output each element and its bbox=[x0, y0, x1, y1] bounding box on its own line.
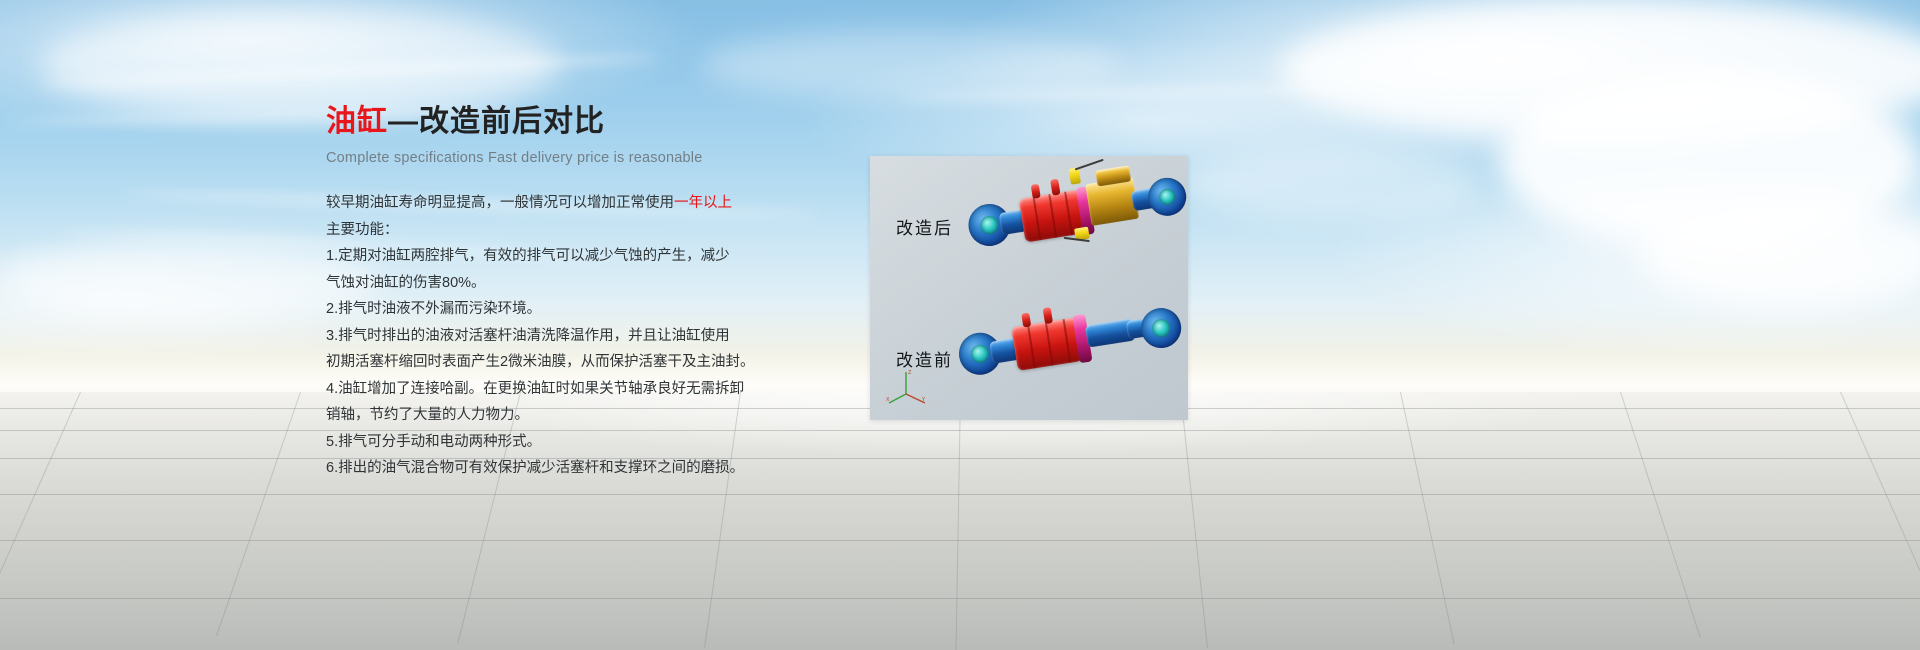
cloud bbox=[1640, 200, 1920, 310]
svg-text:Z: Z bbox=[908, 370, 912, 376]
feature-line: 5.排气可分手动和电动两种形式。 bbox=[326, 429, 766, 456]
exhaust-valve-assembly bbox=[1085, 177, 1139, 226]
barrel-port bbox=[1043, 307, 1053, 324]
cloud bbox=[1180, 150, 1480, 220]
feature-line: 气蚀对油缸的伤害80%。 bbox=[326, 270, 766, 297]
barrel-rib bbox=[1048, 194, 1057, 238]
coordinate-axis-icon: Z X Y bbox=[886, 368, 928, 406]
feature-text-list: 较早期油缸寿命明显提高，一般情况可以增加正常使用一年以上 主要功能： 1.定期对… bbox=[326, 190, 766, 482]
barrel-rib bbox=[1027, 325, 1036, 369]
feature-line: 2.排气时油液不外漏而污染环境。 bbox=[326, 296, 766, 323]
exhaust-hose bbox=[1075, 159, 1104, 171]
barrel-rib bbox=[1064, 192, 1073, 236]
page-title-rest: —改造前后对比 bbox=[388, 105, 605, 138]
barrel-port bbox=[1021, 313, 1031, 328]
cylinder-eye bbox=[1145, 175, 1188, 218]
feature-line: 较早期油缸寿命明显提高，一般情况可以增加正常使用一年以上 bbox=[326, 190, 766, 217]
feature-line: 6.排出的油气混合物可有效保护减少活塞杆和支撑环之间的磨损。 bbox=[326, 455, 766, 482]
feature-line: 1.定期对油缸两腔排气，有效的排气可以减少气蚀的产生，减少 bbox=[326, 243, 766, 270]
pavement-line bbox=[0, 540, 1920, 541]
cylinder-barrel bbox=[1011, 317, 1083, 371]
svg-text:Y: Y bbox=[921, 397, 926, 403]
page-subtitle: Complete specifications Fast delivery pr… bbox=[326, 148, 766, 168]
label-after-modification: 改造后 bbox=[896, 214, 953, 239]
cylinder-eye bbox=[1138, 305, 1184, 351]
svg-text:X: X bbox=[886, 397, 890, 403]
cloud bbox=[700, 30, 1120, 100]
feature-line: 3.排气时排出的油液对活塞杆油清洗降温作用，并且让油缸使用 bbox=[326, 323, 766, 350]
page-title-highlight: 油缸 bbox=[326, 105, 388, 138]
barrel-rib bbox=[1063, 319, 1072, 363]
product-image-panel: 改造后 改造前 Z X Y bbox=[870, 156, 1188, 420]
cloud bbox=[0, 240, 380, 320]
pavement-line bbox=[0, 598, 1920, 599]
barrel-rib bbox=[1033, 197, 1042, 241]
feature-line: 4.油缸增加了连接哈副。在更换油缸时如果关节轴承良好无需拆卸 bbox=[326, 376, 766, 403]
feature-line: 主要功能： bbox=[326, 217, 766, 244]
barrel-rib bbox=[1045, 322, 1054, 366]
feature-line: 初期活塞杆缩回时表面产生2微米油膜，从而保护活塞干及主油封。 bbox=[326, 349, 766, 376]
barrel-port bbox=[1050, 179, 1060, 196]
banner-text-block: 油缸—改造前后对比 Complete specifications Fast d… bbox=[326, 104, 766, 482]
hero-banner: 油缸—改造前后对比 Complete specifications Fast d… bbox=[0, 0, 1920, 650]
feature-line-highlight: 一年以上 bbox=[674, 195, 732, 211]
barrel-port bbox=[1031, 184, 1041, 199]
pavement-line bbox=[0, 494, 1920, 495]
page-title: 油缸—改造前后对比 bbox=[326, 104, 766, 140]
feature-line: 销轴，节约了大量的人力物力。 bbox=[326, 402, 766, 429]
feature-line-text: 较早期油缸寿命明显提高，一般情况可以增加正常使用 bbox=[326, 195, 674, 211]
pavement-background bbox=[0, 392, 1920, 650]
pavement-line bbox=[0, 458, 1920, 459]
